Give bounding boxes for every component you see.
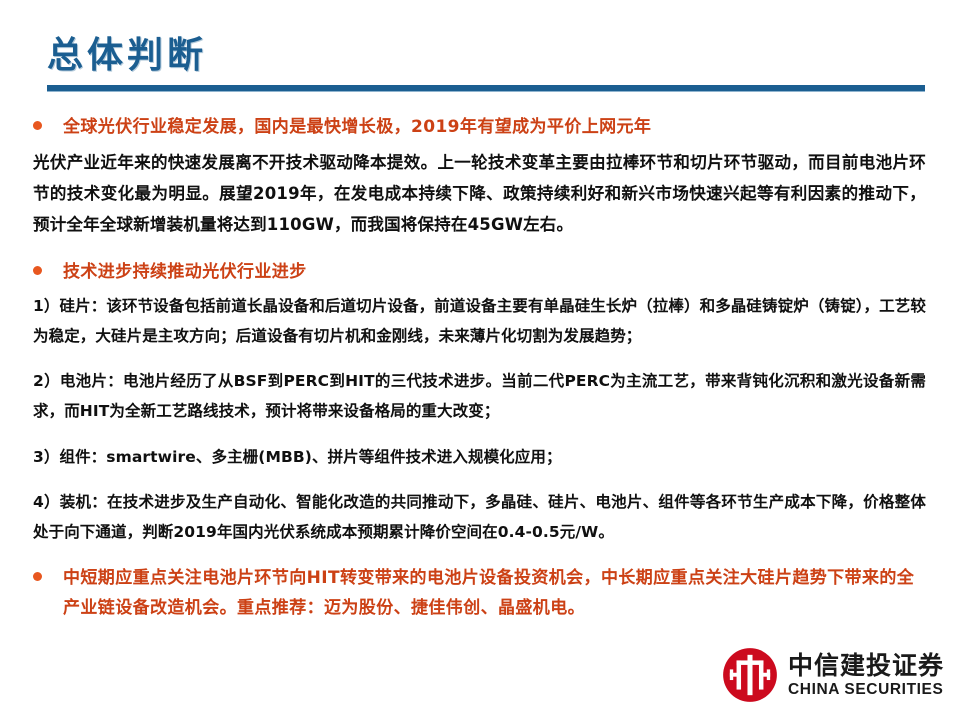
title-underline-rule <box>47 85 925 92</box>
bullet-heading-3-text: 中短期应重点关注电池片环节向HIT转变带来的电池片设备投资机会，中长期应重点关注… <box>63 563 926 623</box>
logo-english-name: CHINA SECURITIES <box>788 682 944 698</box>
numbered-item-cell: 2）电池片：电池片经历了从BSF到PERC到HIT的三代技术进步。当前二代PER… <box>33 366 926 426</box>
company-logo: 中信建投证券 CHINA SECURITIES <box>722 645 937 705</box>
title-block: 总体判断 <box>47 33 925 92</box>
slide-canvas: 总体判断 全球光伏行业稳定发展，国内是最快增长极，2019年有望成为平价上网元年… <box>0 0 959 719</box>
bullet-dot-icon <box>33 572 42 581</box>
numbered-item-module: 3）组件：smartwire、多主栅(MBB)、拼片等组件技术进入规模化应用； <box>33 442 926 472</box>
citic-emblem-icon <box>722 647 778 703</box>
paragraph-industry-overview: 光伏产业近年来的快速发展离不开技术驱动降本提效。上一轮技术变革主要由拉棒环节和切… <box>33 147 926 240</box>
numbered-item-installation: 4）装机：在技术进步及生产自动化、智能化改造的共同推动下，多晶硅、硅片、电池片、… <box>33 487 926 547</box>
numbered-item-wafer: 1）硅片：该环节设备包括前道长晶设备和后道切片设备，前道设备主要有单晶硅生长炉（… <box>33 291 926 351</box>
page-title: 总体判断 <box>47 33 925 79</box>
logo-chinese-name: 中信建投证券 <box>788 653 944 678</box>
bullet-dot-icon <box>33 121 42 130</box>
bullet-item-2: 技术进步持续推动光伏行业进步 <box>33 257 926 287</box>
bullet-item-1: 全球光伏行业稳定发展，国内是最快增长极，2019年有望成为平价上网元年 <box>33 112 926 142</box>
bullet-item-3: 中短期应重点关注电池片环节向HIT转变带来的电池片设备投资机会，中长期应重点关注… <box>33 563 926 623</box>
logo-wordmark: 中信建投证券 CHINA SECURITIES <box>788 653 944 698</box>
bullet-heading-2-text: 技术进步持续推动光伏行业进步 <box>63 257 926 287</box>
bullet-heading-1-text: 全球光伏行业稳定发展，国内是最快增长极，2019年有望成为平价上网元年 <box>63 112 926 142</box>
slide-content: 全球光伏行业稳定发展，国内是最快增长极，2019年有望成为平价上网元年 光伏产业… <box>33 112 926 623</box>
bullet-dot-icon <box>33 266 42 275</box>
